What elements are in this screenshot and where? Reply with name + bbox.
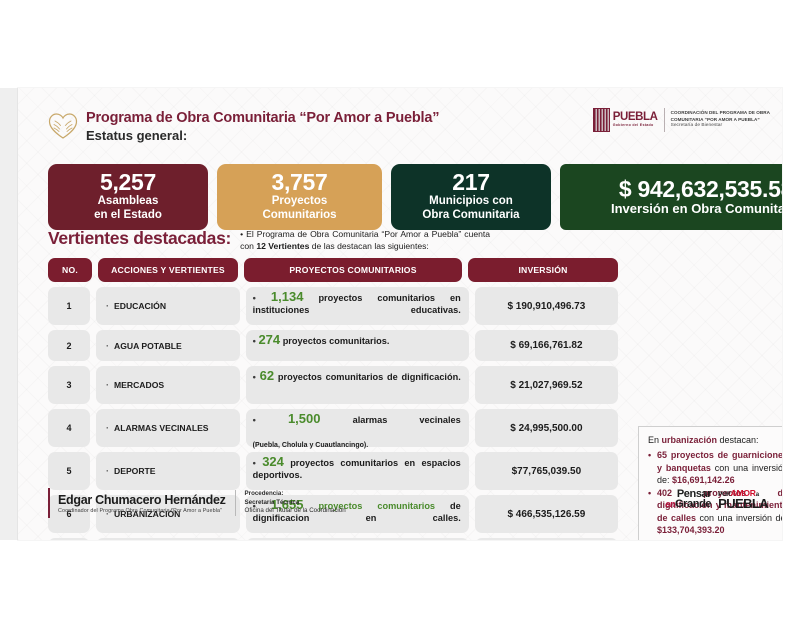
cell-no: 1 [48,287,90,325]
cell-inversion: $ 190,910,496.73 [475,287,618,325]
table-row: 5 ·DEPORTE • 324 proyectos comunitarios … [48,452,618,490]
cell-accion: ·ALARMAS VECINALES [96,409,240,447]
cell-accion: ·AGUA POTABLE [96,330,240,361]
column-header-acciones: ACCIONES Y VERTIENTES [98,258,238,282]
cell-inversion: $ 24,995,500.00 [475,409,618,447]
bullet-icon: · [106,466,109,476]
cell-no: 2 [48,330,90,361]
cell-inversion: $77,765,039.50 [475,452,618,490]
table-row: 4 ·ALARMAS VECINALES • 1,500 alarmas vec… [48,409,618,447]
stat-value: 217 [401,170,541,195]
institutional-logo-block: PUEBLA Gobierno del Estado COORDINACIÓN … [593,108,770,132]
cell-no: 5 [48,452,90,490]
callout-title-post: destacan: [717,435,759,445]
column-header-inversion: INVERSIÓN [468,258,618,282]
cell-no: 3 [48,366,90,404]
callout-item-bold2: $16,691,142.26 [672,475,735,485]
stat-label-line2: en el Estado [58,209,198,223]
stat-card-municipios: 217 Municipios con Obra Comunitaria [391,164,551,230]
coordination-text: COORDINACIÓN DEL PROGRAMA DE OBRA COMUNI… [671,110,770,130]
bullet-icon: • [253,415,288,425]
cell-accion-label: MERCADOS [114,380,164,390]
header: Programa de Obra Comunitaria “Por Amor a… [48,110,439,144]
footer: Edgar Chumacero Hernández Coordinador de… [48,488,346,518]
cell-accion: ·ELECTRIFICACIÓN [96,538,240,540]
puebla-emblem-icon [593,108,610,132]
cell-proyectos: • 324 proyectos comunitarios en espacios… [246,452,469,490]
cell-accion: ·DEPORTE [96,452,240,490]
footer-name: Edgar Chumacero Hernández [58,493,226,507]
por-amor-a-puebla-logo: PORAMORa PUEBLA [718,488,768,509]
callout-item-reg: con una inversión de: [696,513,782,523]
puebla-wordmark: PUEBLA [613,112,658,124]
cell-project-desc: proyectos comunitarios de dignificación. [274,372,461,382]
stat-label-line1: Municipios con [401,195,541,209]
footer-brand-logos: Pensar enGrande PORAMORa PUEBLA [665,488,768,509]
table-row: 2 ·AGUA POTABLE • 274 proyectos comunita… [48,330,618,361]
callout-item-bold2: $133,704,393.20 [657,525,725,535]
stat-label-line1: Asambleas [58,195,198,209]
puebla-wordmark-sub: Gobierno del Estado [613,124,658,128]
cell-accion-label: DEPORTE [114,466,156,476]
cell-proyectos: • 62 proyectos comunitarios de dignifica… [246,366,469,404]
cell-project-count: 324 [262,454,284,469]
pensar-en: en [665,499,675,509]
cell-project-desc: proyectos comunitarios en espacios depor… [253,458,461,480]
cell-inversion: $ 69,166,761.82 [475,330,618,361]
slide-canvas: Programa de Obra Comunitaria “Por Amor a… [0,0,800,625]
callout-title-bold: urbanización [662,435,718,445]
vertientes-note-bold: 12 Vertientes [256,241,309,251]
puebla-logo: PUEBLA Gobierno del Estado [593,108,658,132]
cell-project-note: (Puebla, Cholula y Cuautlancingo). [253,442,369,449]
cell-project-count: 62 [260,368,274,383]
bullet-icon: • [253,372,260,382]
cell-accion: ·MERCADOS [96,366,240,404]
cell-accion-label: ALARMAS VECINALES [114,423,209,433]
footer-proc-line1: Secretaría Técnica [245,499,346,508]
stat-value: 3,757 [227,170,372,195]
column-header-proyectos: PROYECTOS COMUNITARIOS [244,258,462,282]
page-left-gutter [0,88,18,540]
callout-item: • 65 proyectos de guarniciones y banquet… [648,449,782,487]
cell-inversion: $ 466,535,126.59 [475,495,618,533]
hands-heart-icon [48,112,78,140]
stat-value: $ 942,632,535.58 [570,177,782,202]
vertientes-note-part2: de las destacan las siguientes: [309,241,428,251]
cell-project-desc: alarmas vecinales [321,415,461,425]
cell-proyectos: • 274 proyectos comunitarios. [246,330,469,361]
cell-no: 7 [48,538,90,540]
page-subtitle: Estatus general: [86,128,439,144]
vertientes-note: • El Programa de Obra Comunitaria “Por A… [240,229,490,252]
cell-accion-label: EDUCACIÓN [114,301,166,311]
footer-proc-label: Procedencia: [245,490,346,499]
urbanizacion-callout: En urbanización destacan: • 65 proyectos… [638,426,782,540]
callout-title: En urbanización destacan: [648,434,782,447]
stat-label-line2: Comunitarios [227,209,372,223]
stat-card-asambleas: 5,257 Asambleas en el Estado [48,164,208,230]
coordination-line-1: COORDINACIÓN DEL PROGRAMA DE OBRA [671,110,770,117]
cell-project-desc: proyectos comunitarios. [280,336,389,346]
cell-inversion: $ 9,085,256.97 [475,538,618,540]
cell-project-count: 274 [258,332,280,347]
cell-accion: ·EDUCACIÓN [96,287,240,325]
cell-proyectos: • 1,134 proyectos comunitarios en instit… [246,287,469,325]
pensar-grande: Grande [675,498,711,510]
footer-procedencia: Procedencia: Secretaría Técnica Oficina … [245,490,346,516]
stat-card-proyectos: 3,757 Proyectos Comunitarios [217,164,382,230]
callout-title-pre: En [648,435,662,445]
pensar-en-grande-logo: Pensar enGrande [665,489,711,509]
cell-proyectos: • 40 proyectos comunitarios de electrifi… [246,538,469,540]
bullet-icon: · [106,341,109,351]
cell-no: 4 [48,409,90,447]
stat-label-line1: Inversión en Obra Comunitaria [570,202,782,216]
cell-accion-label: AGUA POTABLE [114,341,182,351]
slide-body: Programa de Obra Comunitaria “Por Amor a… [18,88,782,540]
footer-role: Coordinador del Programa Obra Comunitari… [58,508,226,514]
page-title: Programa de Obra Comunitaria “Por Amor a… [86,110,439,127]
coordination-line-3: Secretaría de Bienestar [671,123,770,130]
table-row: 1 ·EDUCACIÓN • 1,134 proyectos comunitar… [48,287,618,325]
amor-puebla: PUEBLA [718,499,768,509]
bullet-icon: • [253,293,271,303]
bullet-icon: · [106,423,109,433]
cell-project-count: 1,500 [288,411,321,426]
stats-row: 5,257 Asambleas en el Estado 3,757 Proye… [48,164,782,230]
stat-label-line2: Obra Comunitaria [401,209,541,223]
cell-proyectos: • 1,500 alarmas vecinales (Puebla, Cholu… [246,409,469,447]
bullet-icon: • [648,487,657,537]
bullet-icon: · [106,301,109,311]
vertientes-title: Vertientes destacadas: [48,228,231,248]
vertientes-heading-row: Vertientes destacadas: • El Programa de … [48,228,490,252]
logo-divider [664,108,665,132]
cell-project-count: 1,134 [271,289,304,304]
footer-proc-line2: Oficina del Titular de la Coordinación [245,507,346,516]
bullet-icon: • [253,458,263,468]
stat-value: 5,257 [58,170,198,195]
cell-inversion: $ 21,027,969.52 [475,366,618,404]
column-header-no: NO. [48,258,92,282]
footer-divider [235,490,236,516]
stat-label-line1: Proyectos [227,195,372,209]
table-header-row: NO. ACCIONES Y VERTIENTES PROYECTOS COMU… [48,258,618,282]
vertientes-note-bullet: • [240,229,243,239]
stat-card-inversion: $ 942,632,535.58 Inversión en Obra Comun… [560,164,782,230]
footer-accent-bar [48,488,50,518]
bullet-icon: · [106,380,109,390]
table-row: 7 ·ELECTRIFICACIÓN • 40 proyectos comuni… [48,538,618,540]
bullet-icon: • [648,449,657,487]
table-row: 3 ·MERCADOS • 62 proyectos comunitarios … [48,366,618,404]
